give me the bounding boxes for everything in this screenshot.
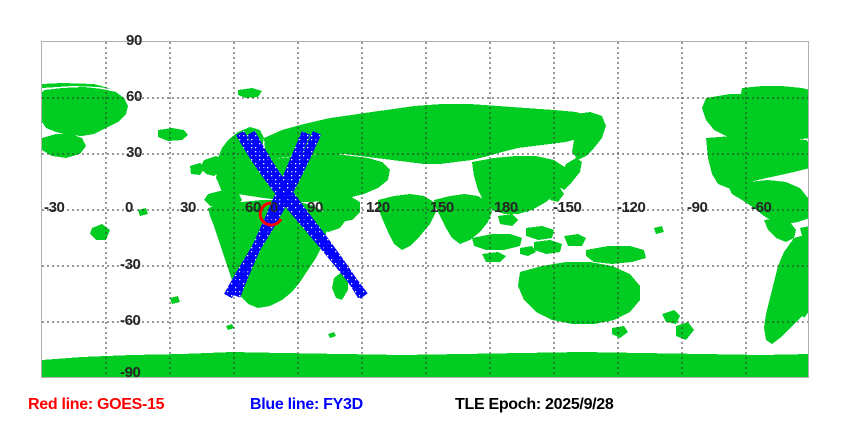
- lat-tick-30: 30: [126, 145, 142, 160]
- lon-tick--150: -150: [553, 200, 581, 215]
- lon-tick-60: 60: [245, 200, 261, 215]
- lon-tick-180: 180: [494, 200, 518, 215]
- legend-red-line: Red line: GOES-15: [28, 397, 164, 413]
- lon-tick--90: -90: [687, 200, 707, 215]
- legend-tle-epoch: TLE Epoch: 2025/9/28: [455, 397, 614, 413]
- lat-tick-60: 60: [126, 89, 142, 104]
- legend: Red line: GOES-15 Blue line: FY3D TLE Ep…: [0, 392, 850, 425]
- lon-tick-0: 0: [125, 200, 133, 215]
- lon-tick-150: 150: [430, 200, 454, 215]
- lon-tick-90: 90: [307, 200, 323, 215]
- lat-tick--60: -60: [120, 313, 140, 328]
- lat-tick--90: -90: [120, 365, 140, 380]
- lat-tick-90: 90: [126, 33, 142, 48]
- lon-tick--120: -120: [617, 200, 645, 215]
- lon-tick--60: -60: [751, 200, 771, 215]
- lat-tick-0: 0: [270, 200, 278, 215]
- lon-tick-30: 30: [180, 200, 196, 215]
- lon-tick-120: 120: [366, 200, 390, 215]
- lat-tick--30: -30: [120, 257, 140, 272]
- satellite-ground-track-map: -30 0 30 60 90 120 150 180 -150 -120 -90…: [0, 0, 850, 425]
- legend-blue-line: Blue line: FY3D: [250, 397, 363, 413]
- lon-tick--30: -30: [44, 200, 64, 215]
